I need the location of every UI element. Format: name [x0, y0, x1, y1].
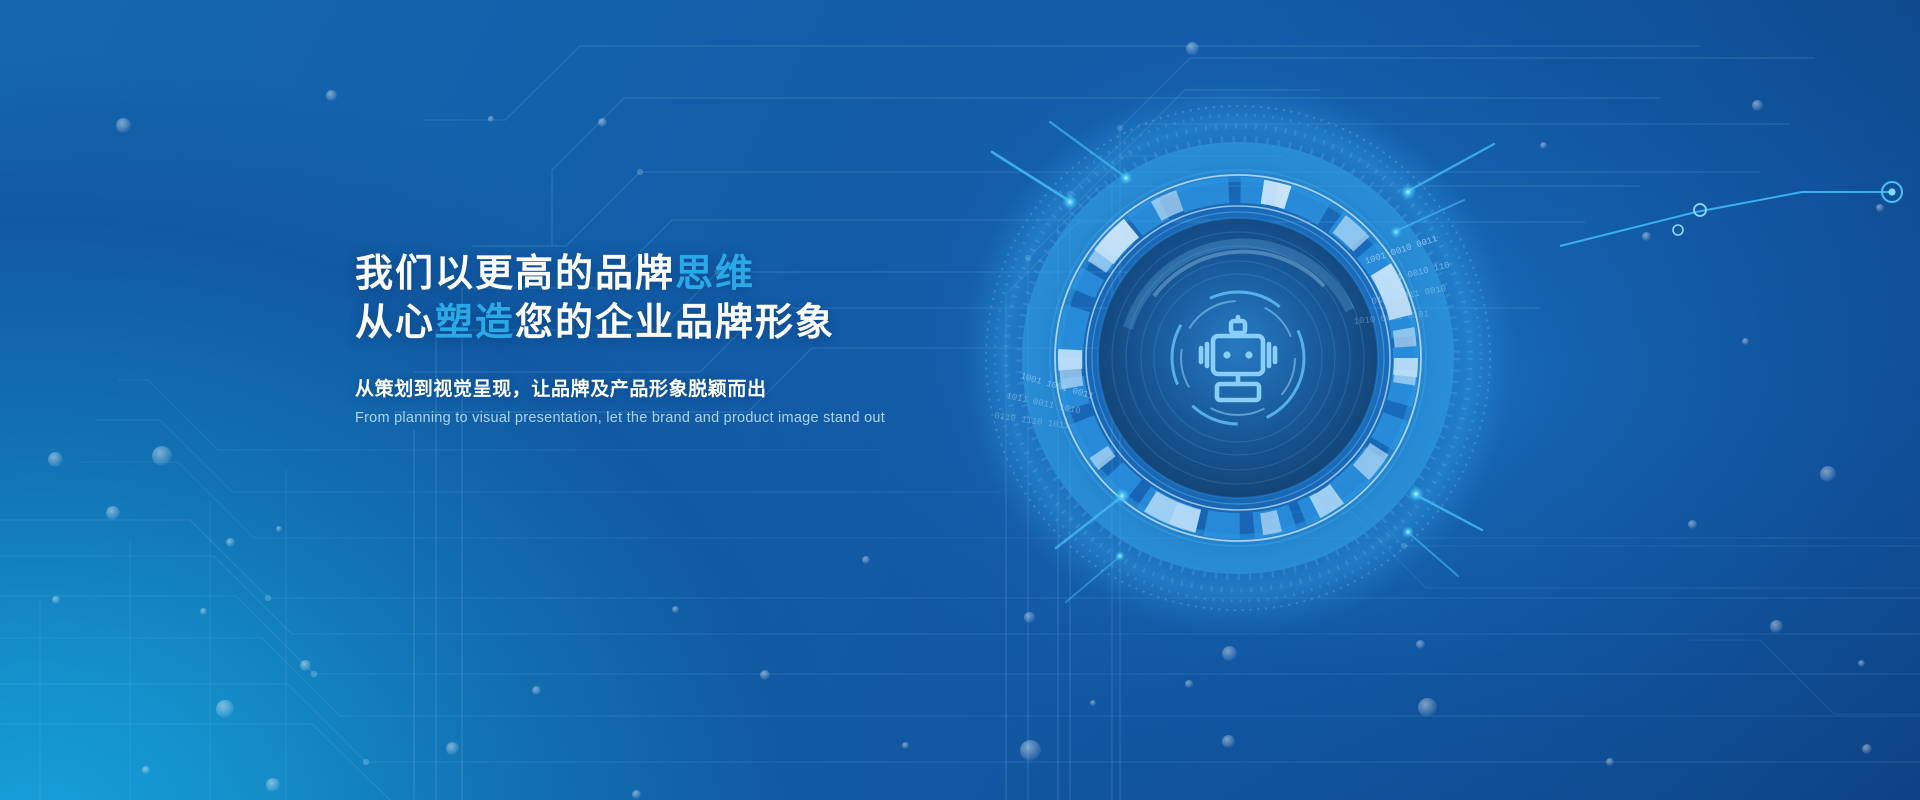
bokeh-dot: [1185, 680, 1193, 688]
bokeh-dot: [226, 538, 235, 547]
bokeh-dot: [760, 670, 770, 680]
headline-line-2: 从心塑造您的企业品牌形象: [355, 299, 1255, 348]
hero-banner: 1001 0010 0011 1011 0010 110 0110 1011 0…: [0, 0, 1920, 800]
bokeh-dot: [300, 660, 311, 671]
bokeh-dot: [200, 608, 207, 615]
hero-copy-block: 我们以更高的品牌思维 从心塑造您的企业品牌形象 从策划到视觉呈现，让品牌及产品形…: [355, 250, 1255, 426]
bokeh-dot: [1688, 520, 1697, 529]
bokeh-dot: [48, 452, 63, 467]
bokeh-dot: [142, 766, 150, 774]
bokeh-dot: [116, 118, 131, 133]
bokeh-dot: [1742, 338, 1749, 345]
bokeh-dot: [1858, 660, 1865, 667]
bokeh-dot: [632, 790, 641, 799]
bokeh-dot: [1752, 100, 1763, 111]
bokeh-dot: [1416, 640, 1425, 649]
bokeh-dot: [598, 118, 607, 127]
bokeh-dot: [326, 90, 337, 101]
bokeh-dot: [1186, 42, 1199, 55]
headline-line-2-highlight: 塑造: [435, 302, 515, 344]
subtitle-english: From planning to visual presentation, le…: [355, 410, 1255, 426]
bokeh-dot: [1770, 620, 1783, 633]
bokeh-dot: [532, 686, 541, 695]
bokeh-dot: [1606, 758, 1614, 766]
bokeh-dot: [1418, 698, 1437, 717]
bokeh-dot: [106, 506, 120, 520]
bokeh-dot: [1540, 142, 1547, 149]
bokeh-dot: [276, 526, 282, 532]
bokeh-dot: [1222, 646, 1237, 661]
bokeh-dot: [446, 742, 459, 755]
bokeh-dot: [1090, 700, 1096, 706]
bokeh-dot: [1222, 735, 1235, 748]
subtitle-chinese: 从策划到视觉呈现，让品牌及产品形象脱颖而出: [355, 374, 1255, 401]
bokeh-dot: [488, 116, 494, 122]
headline-line-1-plain: 我们以更高的品牌: [355, 253, 675, 295]
headline-line-2-plain-after: 您的企业品牌形象: [515, 302, 835, 344]
bokeh-dot: [862, 556, 870, 564]
headline-line-1: 我们以更高的品牌思维: [355, 250, 1255, 299]
bokeh-dot: [672, 606, 679, 613]
bokeh-dot: [1020, 740, 1041, 761]
bokeh-dot: [902, 742, 909, 749]
bokeh-dot: [266, 778, 280, 792]
headline-line-1-highlight: 思维: [675, 253, 755, 295]
bokeh-dot: [152, 446, 172, 466]
bokeh-dot: [216, 700, 234, 718]
connector-line: [1560, 150, 1920, 310]
headline-line-2-plain-before: 从心: [355, 302, 435, 344]
bokeh-dot: [52, 596, 60, 604]
bokeh-dot: [1820, 466, 1836, 482]
bokeh-dot: [1862, 744, 1872, 754]
